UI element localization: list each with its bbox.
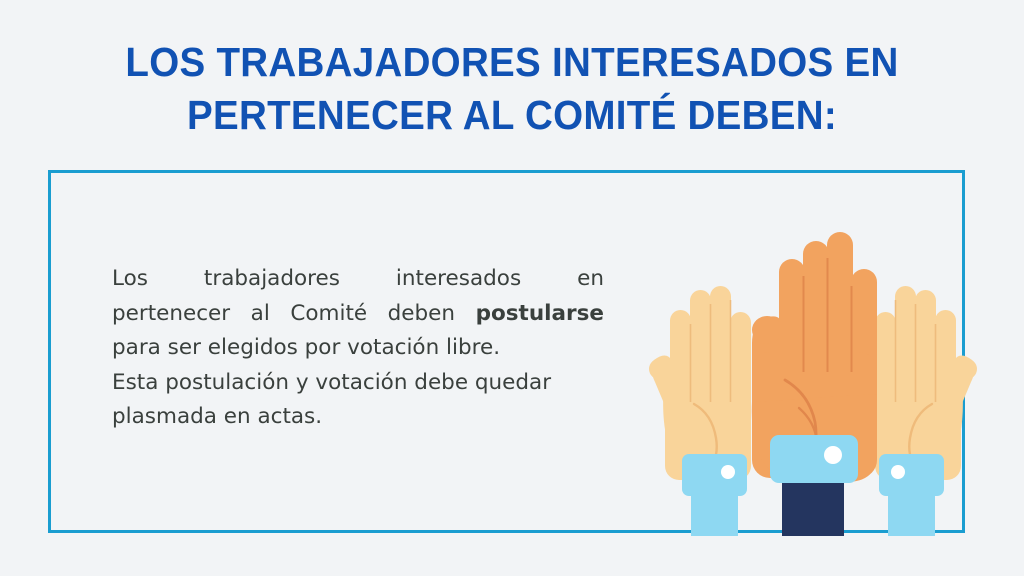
right-hand-group xyxy=(875,286,977,536)
left-hand-cuff xyxy=(682,454,747,496)
right-hand-skin xyxy=(875,286,977,480)
center-hand-group xyxy=(752,232,877,536)
body-line-1: Los trabajadores interesados en xyxy=(112,262,604,297)
raised-hands-illustration xyxy=(648,232,978,536)
center-hand-cuff-button xyxy=(824,446,842,464)
right-hand-cuff xyxy=(879,454,944,496)
page-title: LOS TRABAJADORES INTERESADOS EN PERTENEC… xyxy=(62,36,962,142)
body-line-4: Esta postulación y votación debe quedar xyxy=(112,366,604,401)
body-line-1-text: Los trabajadores interesados en xyxy=(112,266,604,291)
body-line-2-prefix: pertenecer al Comité deben xyxy=(112,301,476,326)
left-hand-group xyxy=(649,286,751,536)
body-line-2-emphasis: postularse xyxy=(476,301,604,326)
body-line-2: pertenecer al Comité deben postularse xyxy=(112,297,604,332)
body-line-4-text: Esta postulación y votación debe quedar xyxy=(112,370,551,395)
body-line-5-text: plasmada en actas. xyxy=(112,404,322,429)
right-hand-cuff-button xyxy=(891,465,905,479)
left-hand-skin xyxy=(649,286,751,480)
center-hand-cuff xyxy=(770,435,858,483)
page-title-line-2: PERTENECER AL COMITÉ DEBEN: xyxy=(89,89,935,142)
left-hand-cuff-button xyxy=(721,465,735,479)
body-line-3-text: para ser elegidos por votación libre. xyxy=(112,335,500,360)
body-line-3: para ser elegidos por votación libre. xyxy=(112,331,604,366)
body-line-5: plasmada en actas. xyxy=(112,400,604,435)
body-copy: Los trabajadores interesados en pertenec… xyxy=(112,262,604,435)
page-title-line-1: LOS TRABAJADORES INTERESADOS EN xyxy=(89,36,935,89)
slide-canvas: LOS TRABAJADORES INTERESADOS EN PERTENEC… xyxy=(0,0,1024,576)
raised-hands-icon xyxy=(648,232,978,536)
